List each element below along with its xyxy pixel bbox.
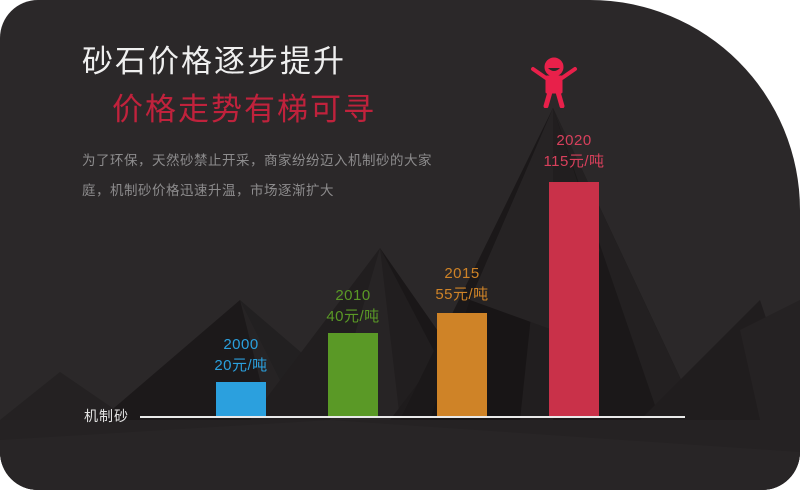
bar-2020: 2020 115元/吨 [549,182,599,416]
dark-card-panel: 砂石价格逐步提升 价格走势有梯可寻 为了环保，天然砂禁止开采，商家纷纷迈入机制砂… [0,0,800,490]
page-title: 砂石价格逐步提升 [82,36,346,81]
chart-baseline [140,416,685,418]
bar-2010: 2010 40元/吨 [328,333,378,416]
infographic-canvas: 砂石价格逐步提升 价格走势有梯可寻 为了环保，天然砂禁止开采，商家纷纷迈入机制砂… [0,0,800,490]
description-paragraph: 为了环保，天然砂禁止开采，商家纷纷迈入机制砂的大家庭，机制砂价格迅速升温，市场逐… [82,146,432,206]
bar-price-2015: 55元/吨 [392,284,532,305]
bar-price-2010: 40元/吨 [283,306,423,327]
bar-year-2000: 2000 [171,334,311,355]
celebrating-person-icon [530,56,578,108]
axis-category-label: 机制砂 [84,406,129,426]
bar-price-2000: 20元/吨 [171,355,311,376]
bar-label-2000: 2000 20元/吨 [171,334,311,376]
bar-label-2015: 2015 55元/吨 [392,263,532,305]
bar-year-2020: 2020 [504,130,644,151]
bar-2000: 2000 20元/吨 [216,382,266,416]
bar-year-2015: 2015 [392,263,532,284]
bar-price-2020: 115元/吨 [504,151,644,172]
bar-2015: 2015 55元/吨 [437,313,487,416]
bar-label-2020: 2020 115元/吨 [504,130,644,172]
page-subtitle: 价格走势有梯可寻 [112,84,376,129]
